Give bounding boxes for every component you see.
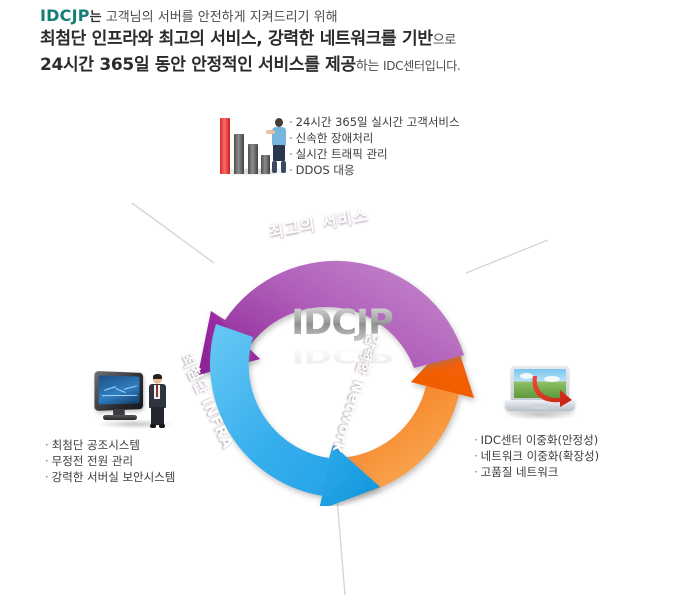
bullet-marker-icon: · — [45, 438, 49, 452]
list-item: ·고품질 네트워크 — [474, 464, 599, 480]
list-item: ·강력한 서버실 보안시스템 — [45, 469, 175, 485]
monitor-screen — [99, 375, 140, 404]
center-logo-reflection: IDCJP — [276, 345, 408, 365]
person-hair — [153, 374, 162, 379]
bullet-marker-icon: · — [289, 115, 293, 129]
bullet-marker-icon: · — [45, 470, 49, 484]
header-line-1: IDCJP는 고객님의 서버를 안전하게 지켜드리기 위해 — [40, 6, 640, 27]
bullet-marker-icon: · — [45, 454, 49, 468]
list-item: ·신속한 장애처리 — [289, 130, 460, 146]
person-shoe-left — [150, 424, 156, 428]
list-item-label: 최첨단 공조시스템 — [52, 438, 140, 452]
chart-bar-4 — [261, 155, 270, 174]
person-tie — [156, 385, 158, 397]
person-shoe-right — [281, 161, 286, 173]
person-head — [275, 118, 283, 127]
screen-graph-line — [102, 395, 137, 396]
brand-name: IDCJP — [40, 6, 90, 25]
person-legs — [151, 407, 164, 425]
monitor-illustration — [95, 372, 179, 432]
bullet-marker-icon: · — [474, 433, 478, 447]
ground-shadow — [503, 410, 579, 420]
bullet-list-infra: ·최첨단 공조시스템 ·무정전 전원 관리 ·강력한 서버실 보안시스템 — [45, 437, 175, 485]
list-item-label: 신속한 장애처리 — [296, 131, 374, 145]
monitor-base — [103, 415, 137, 420]
header-text-block: IDCJP는 고객님의 서버를 안전하게 지켜드리기 위해 최첨단 인프라와 최… — [40, 6, 640, 79]
screen-graph-line — [124, 386, 137, 390]
list-item-label: 고품질 네트워크 — [481, 465, 559, 479]
list-item: ·최첨단 공조시스템 — [45, 437, 175, 453]
chart-bar-1 — [220, 118, 230, 174]
list-item: ·네트워크 이중화(확장성) — [474, 448, 599, 464]
red-curved-arrow-icon — [529, 373, 573, 407]
laptop-illustration — [505, 366, 577, 418]
list-item: ·DDOS 대응 — [289, 162, 460, 178]
header-line-2: 최첨단 인프라와 최고의 서비스, 강력한 네트워크를 기반으로 — [40, 27, 640, 53]
list-item-label: 네트워크 이중화(확장성) — [481, 449, 599, 463]
list-item-label: 24시간 365일 실시간 고객서비스 — [296, 115, 460, 129]
person-legs — [273, 145, 285, 161]
list-item-label: IDC센터 이중화(안정성) — [481, 433, 599, 447]
bullet-marker-icon: · — [289, 131, 293, 145]
person-shoe-left — [272, 161, 277, 173]
header-line-3-tail2: IDC센터입니다. — [383, 59, 460, 73]
infographic-canvas: IDCJP는 고객님의 서버를 안전하게 지켜드리기 위해 최첨단 인프라와 최… — [0, 0, 680, 600]
chart-bar-3 — [248, 144, 258, 174]
connector-line-infra — [337, 498, 345, 595]
person-arm — [266, 130, 275, 134]
bullet-marker-icon: · — [289, 147, 293, 161]
list-item-label: DDOS 대응 — [296, 163, 355, 177]
center-logo: IDCJP — [276, 305, 408, 341]
center-logo-wrap: IDCJP IDCJP — [276, 305, 408, 375]
list-item-label: 강력한 서버실 보안시스템 — [52, 470, 176, 484]
header-line-1-particle: 는 — [90, 10, 102, 25]
businessman-figure-icon — [147, 374, 169, 428]
list-item-label: 무정전 전원 관리 — [52, 454, 133, 468]
list-item: ·24시간 365일 실시간 고객서비스 — [289, 114, 460, 130]
list-item: ·IDC센터 이중화(안정성) — [474, 432, 599, 448]
header-line-2-tail: 으로 — [433, 33, 456, 48]
list-item-label: 실시간 트래픽 관리 — [296, 147, 388, 161]
header-line-3-main: 24시간 365일 동안 안정적인 서비스를 제공 — [40, 55, 356, 75]
header-line-2-main: 최첨단 인프라와 최고의 서비스, 강력한 네트워크를 기반 — [40, 29, 433, 49]
header-line-3: 24시간 365일 동안 안정적인 서비스를 제공하는 IDC센터입니다. — [40, 53, 640, 79]
bullet-marker-icon: · — [474, 465, 478, 479]
monitor-icon — [94, 371, 143, 411]
list-item: ·실시간 트래픽 관리 — [289, 146, 460, 162]
header-line-3-tail: 하는 — [356, 59, 383, 74]
person-figure-icon — [270, 118, 288, 174]
list-item: ·무정전 전원 관리 — [45, 453, 175, 469]
chart-bar-2 — [234, 134, 244, 174]
bullet-marker-icon: · — [474, 449, 478, 463]
header-line-1-rest: 고객님의 서버를 안전하게 지켜드리기 위해 — [102, 10, 338, 25]
bullet-list-service: ·24시간 365일 실시간 고객서비스 ·신속한 장애처리 ·실시간 트래픽 … — [289, 114, 460, 178]
bar-chart-illustration — [220, 112, 288, 174]
bullet-list-network: ·IDC센터 이중화(안정성) ·네트워크 이중화(확장성) ·고품질 네트워크 — [474, 432, 599, 480]
person-shoe-right — [159, 424, 165, 428]
